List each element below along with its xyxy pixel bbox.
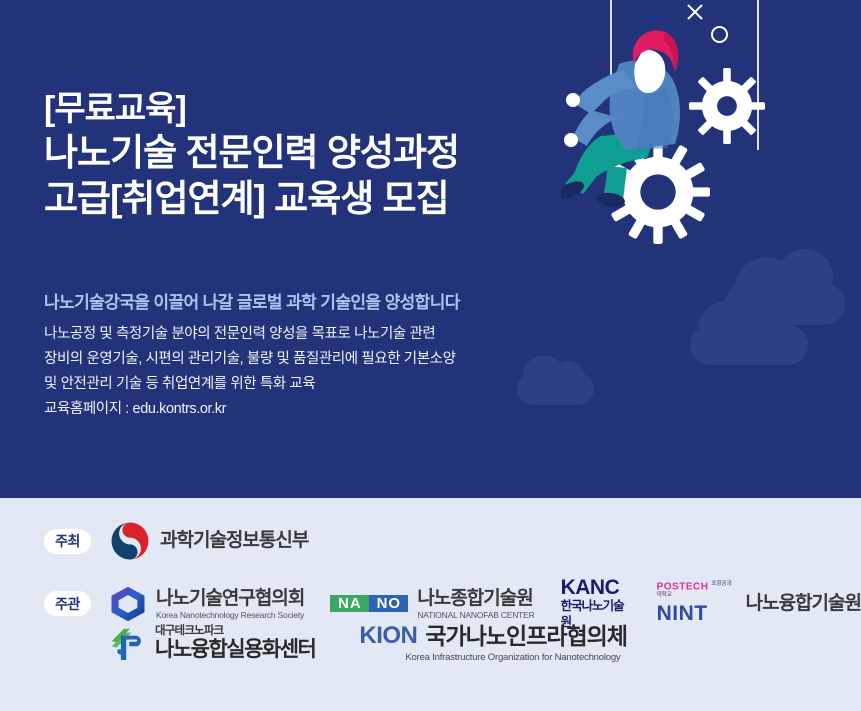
nano-word-left: NA [330,595,369,612]
logo-kion-label-ko: 국가나노인프라협의체 [425,625,627,648]
logo-msit-label: 과학기술정보통신부 [160,530,308,551]
body-line-3: 및 안전관리 기술 등 취업연계를 위한 특화 교육 [44,372,604,397]
logo-kanc-word: KANC [561,577,631,598]
organizer-badge: 주관 [44,591,91,616]
kion-wordmark-icon: KION 국가나노인프라협의체 Korea Infrastructure Org… [359,624,627,663]
logo-msit[interactable]: 과학기술정보통신부 [109,520,308,562]
host-badge: 주최 [44,529,91,554]
logo-nnfc[interactable]: NA NO 나노종합기술원 NATIONAL NANOFAB CENTER [330,588,534,620]
logo-kion[interactable]: KION 국가나노인프라협의체 Korea Infrastructure Org… [359,624,627,663]
headline-block: [무료교육] 나노기술 전문인력 양성과정 고급[취업연계] 교육생 모집 [44,88,564,222]
nano-wordmark-icon: NA NO [330,591,408,617]
description-block: 나노기술강국을 이끌어 나갈 글로벌 과학 기술인을 양성합니다 나노공정 및 … [44,288,604,422]
logo-nnfc-label-ko: 나노종합기술원 [417,588,534,609]
body-line-2: 장비의 운영기술, 시편의 관리기술, 불량 및 품질관리에 필요한 기본소양 [44,347,604,372]
hero-illustration [561,0,861,260]
person-illustration [561,18,721,218]
hexagon-icon [109,586,147,622]
headline-line-1: [무료교육] [44,88,564,130]
logo-kion-word: KION [359,624,417,648]
logo-kion-label-en: Korea Infrastructure Organization for Na… [405,652,627,663]
organizer-row-2: 대구테크노파크 나노융합실용화센터 KION 국가나노인프라협의체 Korea … [108,624,627,663]
subtitle-text: 나노기술강국을 이끌어 나갈 글로벌 과학 기술인을 양성합니다 [44,288,604,313]
sponsor-footer: 주최 과학기술정보통신부 주관 [0,498,861,711]
cloud-shape-2 [690,325,808,365]
logo-dtp-label-top: 대구테크노파크 [155,625,315,638]
taegeuk-icon [109,520,151,562]
headline-line-3: 고급[취업연계] 교육생 모집 [44,176,564,222]
logo-knrs[interactable]: 나노기술연구협의회 Korea Nanotechnology Research … [109,586,304,622]
dtp-icon [108,625,146,663]
logo-nint-label-ko: 나노융합기술원 [746,593,861,614]
logo-daegu-technopark[interactable]: 대구테크노파크 나노융합실용화센터 [108,625,315,663]
logo-dtp-label-ko: 나노융합실용화센터 [155,638,315,662]
host-row: 주최 과학기술정보통신부 [44,520,308,562]
nint-wordmark-icon: POSTECH포항공과대학교 NINT [657,582,737,625]
body-text: 나노공정 및 측정기술 분야의 전문인력 양성을 목표로 나노기술 관련 장비의… [44,322,604,422]
logo-knrs-label-en: Korea Nanotechnology Research Society [156,610,304,620]
body-line-1: 나노공정 및 측정기술 분야의 전문인력 양성을 목표로 나노기술 관련 [44,322,604,347]
promo-banner: [무료교육] 나노기술 전문인력 양성과정 고급[취업연계] 교육생 모집 나노… [0,0,861,498]
logo-nnfc-label-en: NATIONAL NANOFAB CENTER [417,610,534,620]
logo-nint-word: NINT [657,603,737,625]
logo-knrs-label-ko: 나노기술연구협의회 [156,588,304,609]
nano-word-right: NO [369,595,408,612]
logo-nint[interactable]: POSTECH포항공과대학교 NINT 나노융합기술원 [657,582,861,625]
headline-line-2: 나노기술 전문인력 양성과정 [44,130,564,176]
education-homepage-url[interactable]: 교육홈페이지 : edu.kontrs.or.kr [44,397,604,422]
